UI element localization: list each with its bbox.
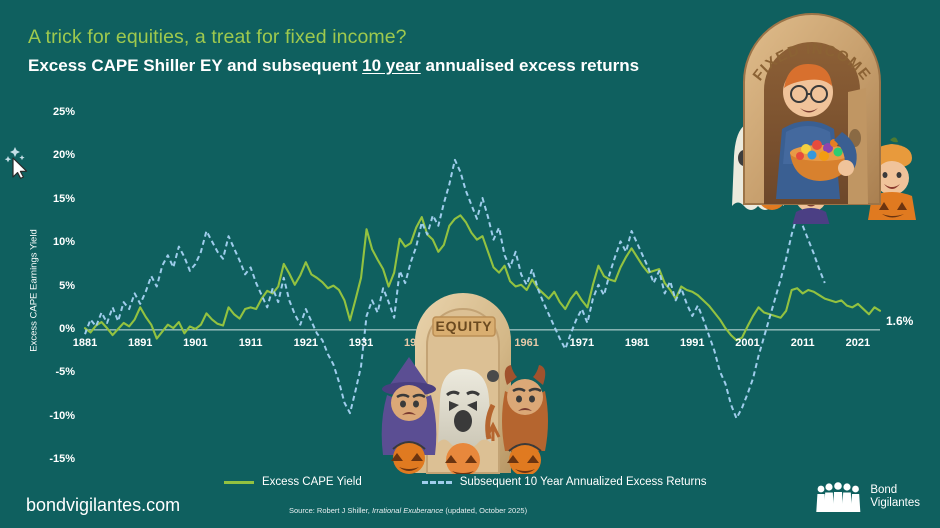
vigilantes-people-icon (816, 481, 862, 513)
legend-item-subsequent-returns[interactable]: Subsequent 10 Year Annualized Excess Ret… (422, 476, 707, 488)
x-tick-label: 2001 (721, 337, 775, 349)
legend-swatch-solid-icon (224, 481, 254, 484)
x-tick-label: 1961 (500, 337, 554, 349)
chart-plot-area: Excess CAPE Earnings Yield 25%20%15%10%5… (0, 0, 940, 528)
subtitle-underlined: 10 year (362, 56, 421, 75)
legend-item-excess-cape-yield[interactable]: Excess CAPE Yield (224, 476, 362, 488)
source-prefix: Source: Robert J Shiller, (289, 506, 372, 515)
page-title: A trick for equities, a treat for fixed … (28, 26, 639, 49)
x-tick-label: 1931 (334, 337, 388, 349)
legend-label-excess-cape-yield: Excess CAPE Yield (262, 476, 362, 488)
brand-logo-line1: Bond (870, 484, 920, 497)
chart-subtitle: Excess CAPE Shiller EY and subsequent 10… (28, 56, 639, 76)
source-suffix: (updated, October 2025) (443, 506, 527, 515)
series-subsequent-returns (85, 160, 825, 419)
subtitle-part-2: annualised excess returns (421, 56, 639, 75)
source-note: Source: Robert J Shiller, Irrational Exu… (289, 506, 527, 515)
x-tick-label: 1991 (665, 337, 719, 349)
series-excess-cape-yield (85, 215, 880, 340)
y-tick-label: 10% (29, 236, 75, 248)
chart-svg (0, 0, 940, 528)
y-tick-label: 0% (29, 323, 75, 335)
x-tick-label: 1911 (224, 337, 278, 349)
y-tick-label: 15% (29, 193, 75, 205)
y-tick-label: -15% (29, 453, 75, 465)
y-tick-label: 25% (29, 106, 75, 118)
x-tick-label: 1901 (168, 337, 222, 349)
x-tick-label: 1971 (555, 337, 609, 349)
endpoint-value-label: 1.6% (886, 314, 913, 328)
x-tick-label: 1981 (610, 337, 664, 349)
y-tick-label: 5% (29, 280, 75, 292)
x-tick-label: 1891 (113, 337, 167, 349)
x-tick-label: 2021 (831, 337, 885, 349)
brand-logo-text: Bond Vigilantes (870, 484, 920, 510)
mouse-cursor-icon (2, 144, 36, 185)
chart-legend: Excess CAPE Yield Subsequent 10 Year Ann… (224, 476, 707, 488)
legend-label-subsequent-returns: Subsequent 10 Year Annualized Excess Ret… (460, 476, 707, 488)
brand-logo-line2: Vigilantes (870, 497, 920, 510)
source-title: Irrational Exuberance (372, 506, 443, 515)
y-tick-label: -10% (29, 410, 75, 422)
legend-swatch-dashed-icon (422, 481, 452, 484)
title-block: A trick for equities, a treat for fixed … (28, 26, 639, 76)
x-tick-label: 1921 (279, 337, 333, 349)
x-tick-label: 1881 (58, 337, 112, 349)
subtitle-part-1: Excess CAPE Shiller EY and subsequent (28, 56, 362, 75)
x-tick-label: 1951 (444, 337, 498, 349)
site-url-text[interactable]: bondvigilantes.com (26, 495, 180, 516)
brand-logo[interactable]: Bond Vigilantes (816, 481, 920, 513)
y-tick-label: -5% (29, 366, 75, 378)
x-tick-label: 2011 (776, 337, 830, 349)
x-tick-label: 1941 (389, 337, 443, 349)
